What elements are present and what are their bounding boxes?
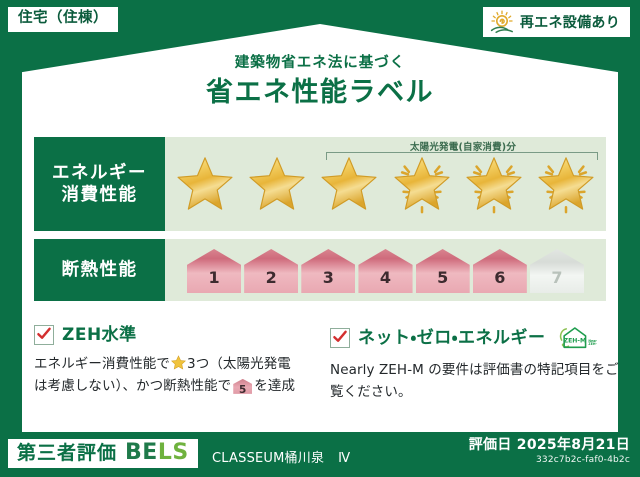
inline-grade-badge: 5 [233,379,252,394]
net-zero-energy-title: ネット・ゼロ・エネルギー [358,330,546,347]
building-name-block: CLASSEUM桶川泉Ⅳ [212,447,350,466]
energy-star [174,153,236,215]
energy-performance-label: 住宅（住棟） 再エネ設備あり 建築物省エネ法に基づく 省エネ性能ラベル [0,0,640,477]
title-subtitle: 建築物省エネ法に基づく [0,55,640,72]
insulation-grade-badge: 5 [416,249,470,293]
zeh-desc-part1: エネルギー消費性能で [34,356,170,372]
zeh-desc-part2: は考慮しない）、かつ断熱性能で [34,378,231,394]
building-name: CLASSEUM桶川泉 [212,451,324,466]
energy-star [463,153,525,215]
energy-star [246,153,308,215]
insulation-grade-badge: 7 [530,249,584,293]
label-title-block: 建築物省エネ法に基づく 省エネ性能ラベル [0,55,640,108]
insulation-performance-row-label: 断熱性能 [34,239,165,301]
energy-star [535,153,597,215]
net-zero-energy-checkbox[interactable] [330,328,350,348]
energy-performance-row: エネルギー 消費性能 太陽光発電(自家消費)分 [34,137,606,231]
solar-generation-note: 太陽光発電(自家消費)分 [328,139,598,153]
insulation-grade-strip: 1234567 [187,247,584,293]
evaluation-uid: 332c7b2c-faf0-4b2c [469,455,630,467]
grade-badge-value: 1 [209,270,220,293]
grade-badge-value: 4 [380,270,391,293]
energy-label-line1: エネルギー [52,162,147,184]
star-solar-icon [535,153,597,215]
energy-star-strip [169,153,602,215]
insulation-grade-badge: 6 [473,249,527,293]
energy-stars-area: 太陽光発電(自家消費)分 [165,137,606,231]
zeh-standard-checkbox[interactable] [34,325,54,345]
zeh-desc-star-text: 3つ（太陽光発電 [187,356,291,372]
net-zero-energy-description: Nearly ZEH-M の要件は評価書の特記項目をご覧ください。 [330,360,620,404]
zeh-standard-description: エネルギー消費性能で3つ（太陽光発電は考慮しない）、かつ断熱性能で5を達成 [34,354,324,398]
energy-star [318,153,380,215]
evaluation-date: 評価日 2025年8月21日 [469,437,630,455]
bels-certification-mark: 第三者評価 BELS [8,439,198,468]
bels-en-label: BELS [125,442,189,464]
check-icon [36,326,52,342]
insulation-grade-badge: 4 [358,249,412,293]
grade-badge-value: 5 [437,270,448,293]
renewable-equipment-badge: 再エネ設備あり [483,7,630,37]
label-footer: 第三者評価 BELS CLASSEUM桶川泉Ⅳ 評価日 2025年8月21日 3… [0,432,640,477]
criterion-zeh-standard: ZEH水準 エネルギー消費性能で3つ（太陽光発電は考慮しない）、かつ断熱性能で5… [34,325,324,398]
evaluation-info: 評価日 2025年8月21日 332c7b2c-faf0-4b2c [469,437,630,466]
grade-badge-value: 6 [494,270,505,293]
energy-star [391,153,453,215]
grade-badge-value: 2 [266,270,277,293]
insulation-performance-row: 断熱性能 1234567 [34,239,606,301]
bels-jp-label: 第三者評価 [17,444,117,463]
star-solar-icon [463,153,525,215]
star-icon [174,153,236,215]
building-name-suffix: Ⅳ [338,451,350,466]
renewable-badge-label: 再エネ設備あり [520,12,620,32]
zeh-desc-part3: を達成 [254,378,295,394]
zeh-standard-title: ZEH水準 [62,327,137,344]
grade-badge-value: 7 [551,270,562,293]
star-icon [318,153,380,215]
grade-badge-value: 3 [323,270,334,293]
sun-renewable-icon [489,10,515,34]
insulation-grades-area: 1234567 [165,239,606,301]
zeh-m-logo-icon: ZEH-M Nearly ZEH-M [557,325,597,351]
energy-label-line2: 消費性能 [62,184,138,206]
energy-performance-row-label: エネルギー 消費性能 [34,137,165,231]
insulation-grade-badge: 2 [244,249,298,293]
check-icon [332,329,348,345]
insulation-label-line1: 断熱性能 [62,259,138,281]
inline-grade-value: 5 [239,384,246,396]
star-solar-icon [391,153,453,215]
star-icon [246,153,308,215]
zeh-m-logo-sub2: ZEH-M [588,342,597,346]
insulation-grade-badge: 1 [187,249,241,293]
criterion-nze-header: ネット・ゼロ・エネルギー ZEH-M Nearly ZEH-M [330,325,620,351]
housing-type-tag: 住宅（住棟） [8,7,118,32]
title-main: 省エネ性能ラベル [0,77,640,108]
insulation-grade-badge: 3 [301,249,355,293]
criterion-net-zero-energy: ネット・ゼロ・エネルギー ZEH-M Nearly ZEH-M Nearly Z… [330,325,620,404]
inline-star-icon [171,355,186,370]
zeh-m-logo-text: ZEH-M [563,337,585,344]
criterion-zeh-header: ZEH水準 [34,325,324,345]
